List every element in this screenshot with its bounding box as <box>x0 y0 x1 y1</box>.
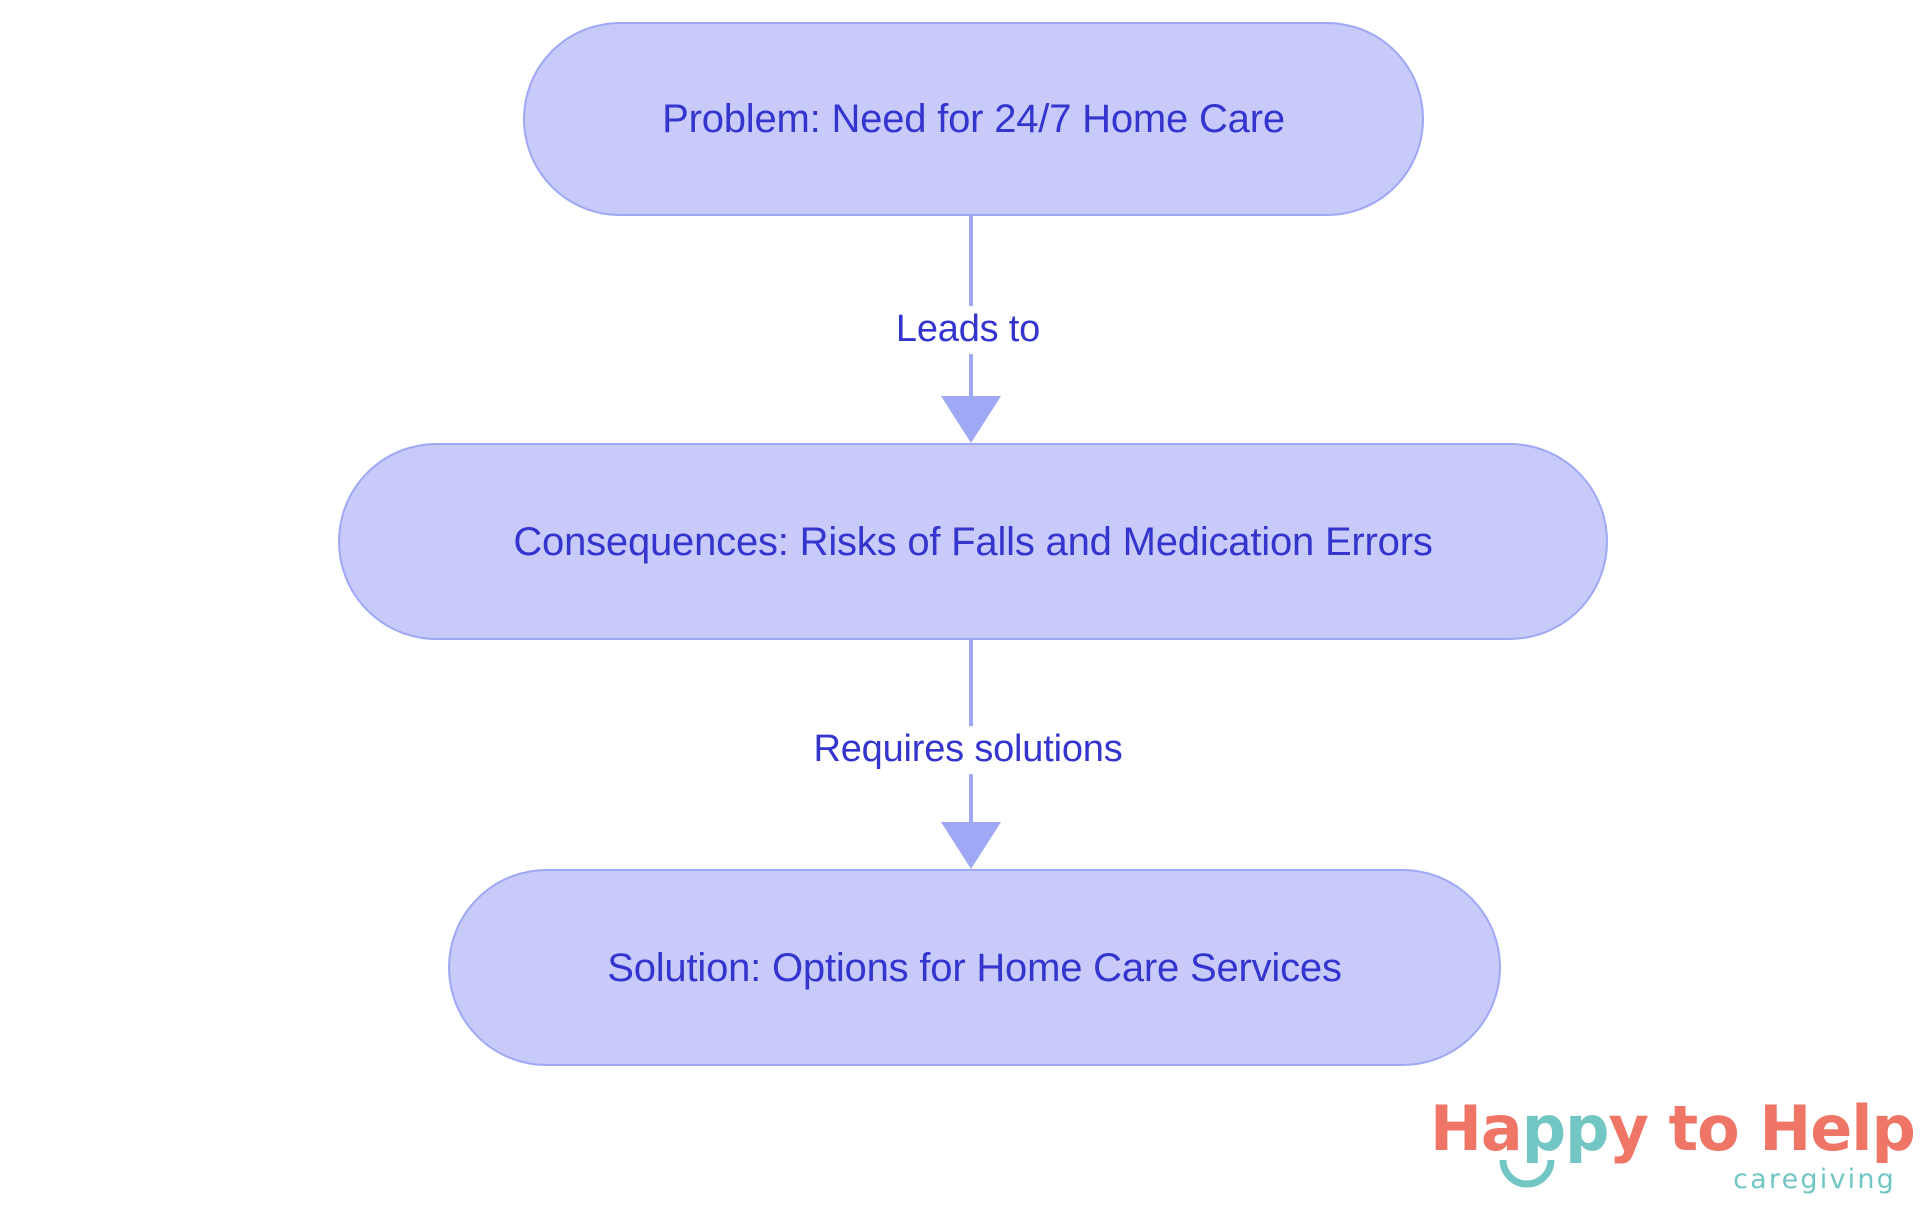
smile-arc-icon <box>1499 1158 1555 1190</box>
logo-word-1: Ha <box>1430 1092 1522 1165</box>
edge-label-leads-to: Leads to <box>886 306 1050 354</box>
logo-tagline: caregiving <box>1733 1166 1896 1193</box>
logo-wordmark: Happy to Help <box>1430 1098 1915 1160</box>
node-consequences[interactable]: Consequences: Risks of Falls and Medicat… <box>338 443 1608 640</box>
flowchart-canvas: Problem: Need for 24/7 Home Care Consequ… <box>0 0 1920 1215</box>
arrow-head-icon <box>941 822 1001 869</box>
logo-word-3: y to Help <box>1609 1092 1915 1165</box>
logo-word-2: pp <box>1522 1092 1609 1165</box>
node-solution-label: Solution: Options for Home Care Services <box>607 946 1342 990</box>
node-solution[interactable]: Solution: Options for Home Care Services <box>448 869 1501 1066</box>
edge-label-requires-solutions: Requires solutions <box>803 726 1132 774</box>
node-consequences-label: Consequences: Risks of Falls and Medicat… <box>513 520 1432 564</box>
brand-logo: Happy to Help caregiving <box>1430 1098 1900 1206</box>
node-problem-label: Problem: Need for 24/7 Home Care <box>662 97 1285 141</box>
node-problem[interactable]: Problem: Need for 24/7 Home Care <box>523 22 1424 216</box>
arrow-head-icon <box>941 396 1001 443</box>
